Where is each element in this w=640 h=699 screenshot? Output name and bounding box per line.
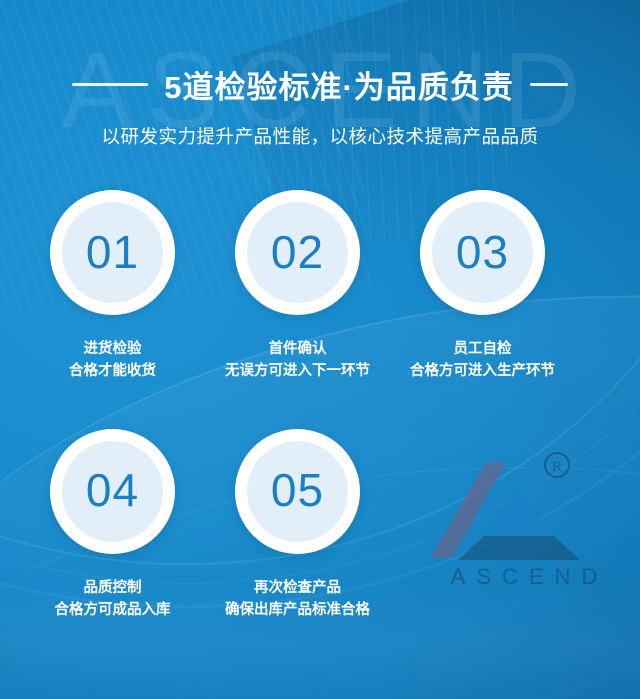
step-item-04: 04 品质控制 合格方可成品入库 — [20, 429, 205, 622]
step-item-01: 01 进货检验 合格才能收货 — [20, 190, 205, 383]
step-circle-03: 03 — [420, 190, 545, 315]
step-caption-02: 首件确认 无误方可进入下一环节 — [205, 338, 390, 383]
step-caption-line2-02: 无误方可进入下一环节 — [205, 360, 390, 382]
page-title: 5道检验标准·为品质负责 — [164, 62, 514, 107]
step-item-02: 02 首件确认 无误方可进入下一环节 — [205, 190, 390, 383]
step-circle-inner-01: 01 — [62, 202, 163, 303]
logo-base-band — [458, 536, 580, 560]
step-circle-02: 02 — [235, 190, 360, 315]
page-subtitle: 以研发实力提升产品性能，以核心技术提高产品品质 — [0, 123, 640, 149]
step-caption-line1-03: 员工自检 — [454, 341, 512, 357]
step-caption-line2-03: 合格方可进入生产环节 — [390, 360, 575, 382]
step-circle-04: 04 — [50, 429, 175, 554]
step-caption-line1-05: 再次检查产品 — [254, 580, 341, 596]
step-caption-01: 进货检验 合格才能收货 — [20, 338, 205, 383]
step-caption-line1-02: 首件确认 — [269, 341, 327, 357]
step-caption-line2-05: 确保出库产品标准合格 — [205, 599, 390, 621]
step-number-03: 03 — [456, 229, 509, 275]
ascend-logo: R ASCEND — [424, 440, 624, 595]
step-caption-line2-01: 合格才能收货 — [20, 360, 205, 382]
title-row: 5道检验标准·为品质负责 — [0, 62, 640, 107]
ascend-logo-mark: R — [424, 440, 624, 570]
step-circle-inner-05: 05 — [247, 441, 348, 542]
poster-header: 5道检验标准·为品质负责 以研发实力提升产品性能，以核心技术提高产品品质 — [0, 62, 640, 149]
promotional-poster: ASCEND 5道检验标准·为品质负责 以研发实力提升产品性能，以核心技术提高产… — [0, 0, 640, 699]
step-circle-05: 05 — [235, 429, 360, 554]
step-caption-05: 再次检查产品 确保出库产品标准合格 — [205, 577, 390, 622]
step-circle-inner-03: 03 — [432, 202, 533, 303]
steps-row-top: 01 进货检验 合格才能收货 02 首件确认 无误方可进入下一环节 — [20, 190, 620, 383]
step-circle-inner-04: 04 — [62, 441, 163, 542]
step-caption-line1-01: 进货检验 — [84, 341, 142, 357]
step-number-05: 05 — [271, 467, 324, 513]
step-caption-03: 员工自检 合格方可进入生产环节 — [390, 338, 575, 383]
step-caption-line1-04: 品质控制 — [84, 580, 142, 596]
step-item-03: 03 员工自检 合格方可进入生产环节 — [390, 190, 575, 383]
title-rule-right — [530, 83, 568, 86]
step-item-05: 05 再次检查产品 确保出库产品标准合格 — [205, 429, 390, 622]
ascend-logo-wordmark: ASCEND — [424, 564, 624, 590]
title-rule-left — [72, 83, 148, 86]
step-number-02: 02 — [271, 229, 324, 275]
step-caption-line2-04: 合格方可成品入库 — [20, 599, 205, 621]
step-circle-inner-02: 02 — [247, 202, 348, 303]
registered-mark-letter: R — [552, 459, 562, 475]
step-number-04: 04 — [86, 467, 139, 513]
step-number-01: 01 — [86, 229, 139, 275]
step-circle-01: 01 — [50, 190, 175, 315]
step-caption-04: 品质控制 合格方可成品入库 — [20, 577, 205, 622]
